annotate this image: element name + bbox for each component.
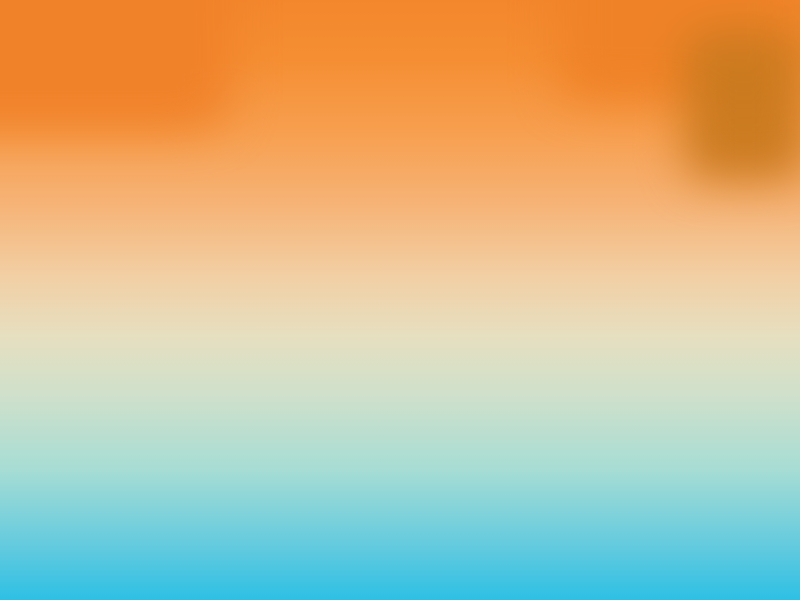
background-gradient [0, 0, 800, 600]
bokeh-blob [685, 30, 800, 180]
bokeh-blob [0, 0, 230, 130]
slide-root: НИЗКАЯ САМООЦЕНКА 1 [0, 0, 800, 600]
background-bokeh-blobs [0, 0, 800, 600]
